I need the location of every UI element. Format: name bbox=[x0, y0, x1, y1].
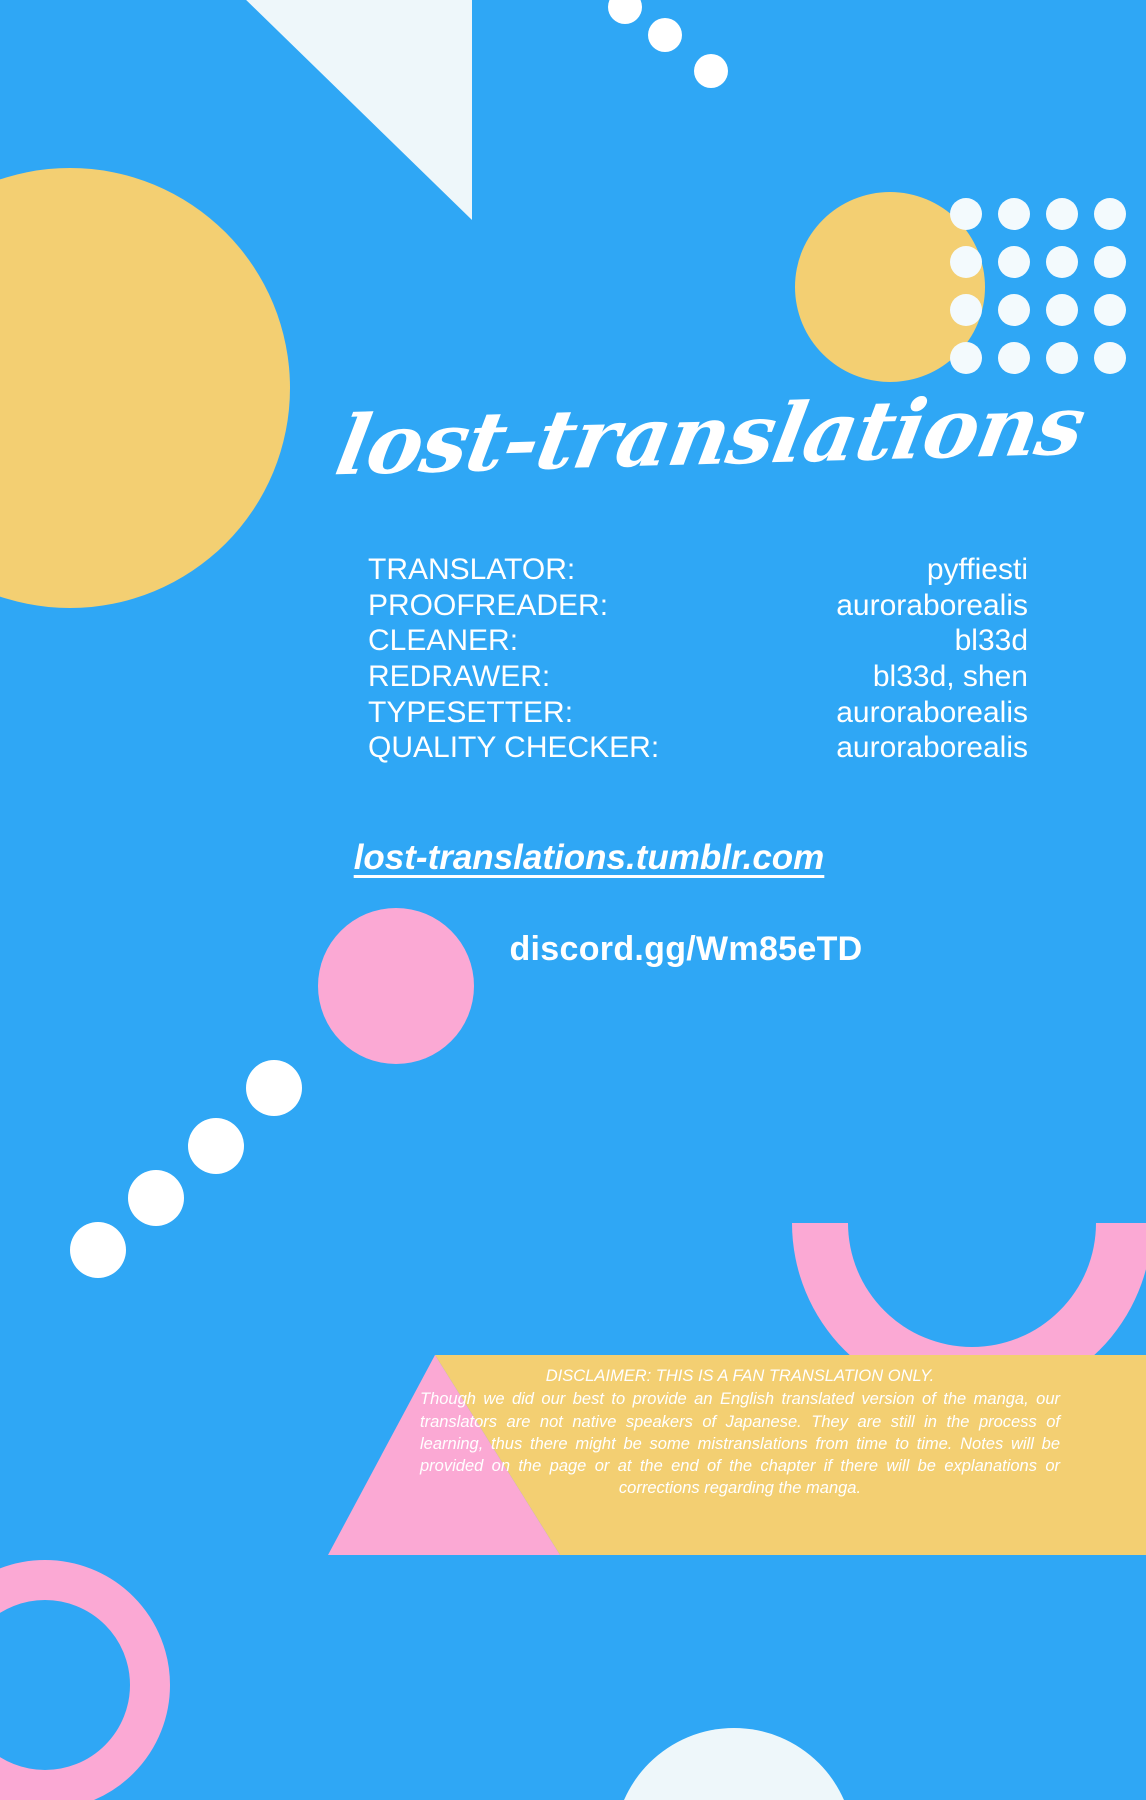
grid-dot bbox=[950, 342, 982, 374]
credit-role-label: TRANSLATOR: bbox=[368, 552, 575, 588]
credit-person-name: auroraborealis bbox=[836, 695, 1028, 731]
credit-person-name: auroraborealis bbox=[836, 588, 1028, 624]
white-dot-decoration bbox=[70, 1222, 126, 1278]
white-circle-bottom-decoration bbox=[614, 1728, 854, 1800]
grid-dot bbox=[1046, 246, 1078, 278]
white-dot-decoration bbox=[188, 1118, 244, 1174]
grid-dot bbox=[998, 342, 1030, 374]
credit-role-label: PROOFREADER: bbox=[368, 588, 608, 624]
white-dot-decoration bbox=[128, 1170, 184, 1226]
grid-dot bbox=[1094, 294, 1126, 326]
pink-arc-decoration bbox=[792, 1043, 1146, 1403]
grid-dot bbox=[1046, 294, 1078, 326]
credit-person-name: bl33d bbox=[955, 623, 1028, 659]
disclaimer-banner: DISCLAIMER: THIS IS A FAN TRANSLATION ON… bbox=[0, 1355, 1146, 1555]
grid-dot bbox=[998, 198, 1030, 230]
disclaimer-body: Though we did our best to provide an Eng… bbox=[420, 1390, 1060, 1497]
pink-ring-decoration bbox=[0, 1560, 170, 1800]
credits-list: TRANSLATOR: pyffiesti PROOFREADER: auror… bbox=[368, 552, 1028, 766]
credit-row: CLEANER: bl33d bbox=[368, 623, 1028, 659]
credits-page: lost-translations TRANSLATOR: pyffiesti … bbox=[0, 0, 1146, 1800]
grid-dot bbox=[950, 294, 982, 326]
grid-dot bbox=[998, 246, 1030, 278]
disclaimer-title: DISCLAIMER: THIS IS A FAN TRANSLATION ON… bbox=[420, 1365, 1060, 1387]
white-dot-decoration bbox=[648, 18, 682, 52]
credit-person-name: auroraborealis bbox=[836, 730, 1028, 766]
discord-link[interactable]: discord.gg/Wm85eTD bbox=[0, 930, 1146, 969]
grid-dot bbox=[1046, 198, 1078, 230]
triangle-decoration-top-left bbox=[240, 0, 472, 220]
credit-row: REDRAWER: bl33d, shen bbox=[368, 659, 1028, 695]
dot-grid-decoration bbox=[942, 190, 1134, 382]
white-dot-decoration bbox=[608, 0, 642, 24]
credit-person-name: pyffiesti bbox=[927, 552, 1028, 588]
grid-dot bbox=[950, 198, 982, 230]
grid-dot bbox=[1094, 198, 1126, 230]
credit-row: TRANSLATOR: pyffiesti bbox=[368, 552, 1028, 588]
yellow-circle-left-decoration bbox=[0, 168, 290, 608]
white-dot-decoration bbox=[246, 1060, 302, 1116]
credit-role-label: REDRAWER: bbox=[368, 659, 550, 695]
credit-row: PROOFREADER: auroraborealis bbox=[368, 588, 1028, 624]
tumblr-link[interactable]: lost-translations.tumblr.com bbox=[0, 838, 1146, 878]
credit-role-label: TYPESETTER: bbox=[368, 695, 573, 731]
credit-role-label: QUALITY CHECKER: bbox=[368, 730, 659, 766]
site-logo: lost-translations bbox=[329, 378, 1091, 495]
credit-role-label: CLEANER: bbox=[368, 623, 518, 659]
grid-dot bbox=[1046, 342, 1078, 374]
grid-dot bbox=[950, 246, 982, 278]
credit-row: TYPESETTER: auroraborealis bbox=[368, 695, 1028, 731]
credit-person-name: bl33d, shen bbox=[873, 659, 1028, 695]
grid-dot bbox=[998, 294, 1030, 326]
credit-row: QUALITY CHECKER: auroraborealis bbox=[368, 730, 1028, 766]
white-dot-decoration bbox=[694, 54, 728, 88]
grid-dot bbox=[1094, 342, 1126, 374]
grid-dot bbox=[1094, 246, 1126, 278]
disclaimer-text-block: DISCLAIMER: THIS IS A FAN TRANSLATION ON… bbox=[420, 1365, 1060, 1500]
